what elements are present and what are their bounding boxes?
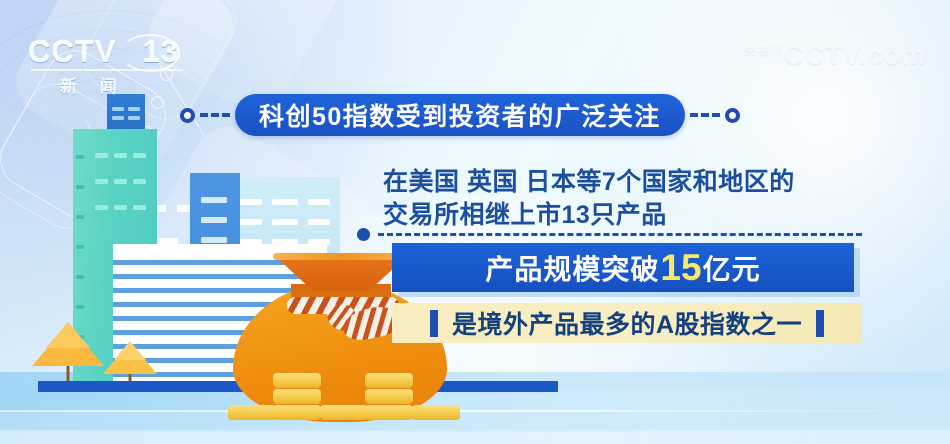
watermark-cn-text: 央视网 — [745, 45, 784, 57]
body-copy: 在美国 英国 日本等7个国家和地区的 交易所相继上市13只产品 — [383, 166, 795, 232]
footnote-band: 是境外产品最多的A股指数之一 — [392, 303, 862, 343]
coin-stack — [273, 370, 321, 420]
dashed-divider — [378, 233, 862, 236]
dash-connector-left — [200, 113, 230, 117]
headline-row: 科创50指数受到投资者的广泛关注 — [180, 94, 740, 136]
coin-stack — [228, 403, 276, 420]
cctv-logo-text: CCTV — [28, 34, 116, 69]
cctv13-logo: CCTV13 新 闻 — [28, 36, 188, 98]
footnote-marker-right-icon — [816, 310, 824, 337]
money-bag-lip-rim — [273, 253, 409, 260]
watermark-text: CCTV.com — [784, 40, 926, 70]
highlight-suffix: 亿元 — [703, 248, 761, 288]
coin-stack — [365, 370, 413, 420]
page-title: 科创50指数受到投资者的广泛关注 — [259, 97, 661, 133]
ground-band-3 — [0, 430, 950, 444]
bullet-dot-icon — [357, 228, 370, 241]
footnote-marker-left-icon — [430, 310, 438, 337]
ring-marker-left-icon — [180, 108, 195, 123]
highlight-prefix: 产品规模突破 — [485, 248, 659, 288]
headline-pill: 科创50指数受到投资者的广泛关注 — [235, 94, 685, 136]
dash-connector-right — [690, 113, 720, 117]
highlight-number: 15 — [660, 249, 701, 286]
cctv-com-watermark: 央视网CCTV.com — [745, 40, 926, 71]
news-graphic-stage: CCTV13 新 闻 央视网CCTV.com 科创50指数受到投资者的广泛关注 … — [0, 0, 950, 444]
coin-stack — [412, 403, 460, 420]
highlight-bar: 产品规模突破 15 亿元 — [392, 243, 854, 292]
ring-marker-right-icon — [725, 108, 740, 123]
coin-stacks — [228, 340, 478, 420]
divider-rule — [357, 228, 862, 241]
cctv-logo-subtitle: 新 闻 — [60, 72, 188, 97]
building-blue-block-top — [107, 94, 145, 130]
body-line-1: 在美国 英国 日本等7个国家和地区的 — [383, 166, 795, 199]
footnote-text: 是境外产品最多的A股指数之一 — [452, 305, 802, 341]
coin-stack — [320, 403, 368, 420]
cctv-channel-ring — [120, 34, 180, 72]
